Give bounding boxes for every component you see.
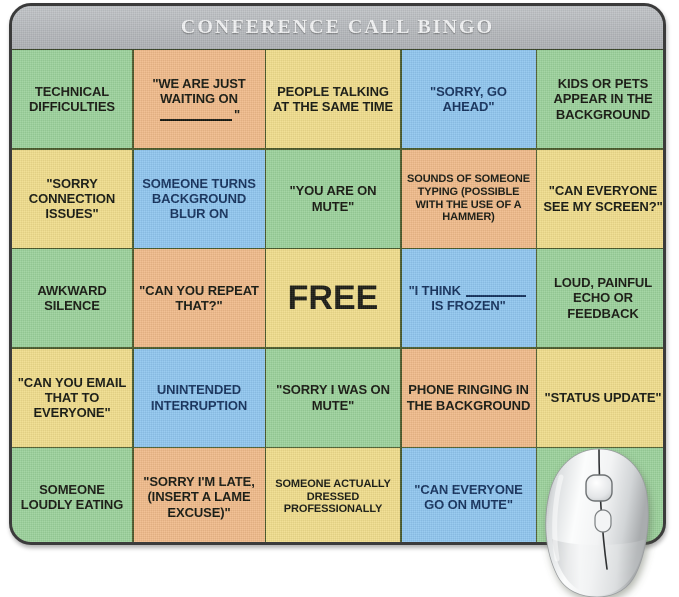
bingo-cell-text: SOMEONE ACTUALLY DRESSED PROFESSIONALLY — [270, 478, 396, 516]
bingo-cell-r4c5: "STATUS UPDATE" — [537, 349, 666, 447]
bingo-cell-text: "WE ARE JUST WAITING ON " — [138, 76, 261, 122]
bingo-cell-r4c3: "SORRY I WAS ON MUTE" — [266, 349, 400, 447]
bingo-cell-text: "SORRY CONNECTION ISSUES" — [16, 176, 128, 222]
mouse-lower-shell — [552, 539, 645, 596]
bingo-cell-text: "SORRY, GO AHEAD" — [406, 84, 532, 115]
bingo-cell-text-after: IS FROZEN" — [431, 298, 506, 313]
bingo-cell-text: KIDS OR PETS APPEAR IN THE BACKGROUND — [541, 76, 665, 122]
bingo-cell-r3c1: AWKWARD SILENCE — [12, 249, 132, 347]
bingo-cell-text: "CAN YOU EMAIL THAT TO EVERYONE" — [16, 375, 128, 421]
bingo-cell-text: UNINTENDED INTERRUPTION — [138, 382, 261, 413]
fill-in-blank — [160, 119, 232, 121]
bingo-cell-text: "CAN EVERYONE GO ON MUTE" — [406, 482, 532, 513]
bingo-cell-text: "SORRY I WAS ON MUTE" — [270, 382, 396, 413]
bingo-cell-r2c5: "CAN EVERYONE SEE MY SCREEN?" — [537, 150, 666, 248]
bingo-cell-r5c1: SOMEONE LOUDLY EATING — [12, 448, 132, 545]
bingo-cell-r5c2: "SORRY I'M LATE, (INSERT A LAME EXCUSE)" — [134, 448, 265, 545]
bingo-cell-text-before: "I THINK — [409, 283, 461, 298]
bingo-cell-r2c2: SOMEONE TURNS BACKGROUND BLUR ON — [134, 150, 265, 248]
fill-in-blank — [466, 295, 526, 297]
bingo-cell-r1c2: "WE ARE JUST WAITING ON " — [134, 50, 265, 148]
bingo-grid: TECHNICAL DIFFICULTIES "WE ARE JUST WAIT… — [12, 49, 663, 545]
mousepad-header: CONFERENCE CALL BINGO — [12, 6, 663, 49]
product-photo: CONFERENCE CALL BINGO TECHNICAL DIFFICUL… — [0, 0, 679, 583]
bingo-cell-text: "I THINK IS FROZEN" — [406, 283, 532, 314]
bingo-cell-r1c3: PEOPLE TALKING AT THE SAME TIME — [266, 50, 400, 148]
bingo-cell-r3c5: LOUD, PAINFUL ECHO OR FEEDBACK — [537, 249, 666, 347]
bingo-cell-text-after: " — [234, 107, 240, 122]
bingo-cell-text: PEOPLE TALKING AT THE SAME TIME — [270, 84, 396, 115]
bingo-cell-free-space: FREE — [266, 249, 400, 347]
bingo-cell-r2c3: "YOU ARE ON MUTE" — [266, 150, 400, 248]
bingo-cell-r2c4: SOUNDS OF SOMEONE TYPING (POSSIBLE WITH … — [402, 150, 536, 248]
bingo-cell-r5c4: "CAN EVERYONE GO ON MUTE" — [402, 448, 536, 545]
bingo-cell-r1c4: "SORRY, GO AHEAD" — [402, 50, 536, 148]
bingo-cell-text: "SORRY I'M LATE, (INSERT A LAME EXCUSE)" — [138, 474, 261, 520]
free-space-label: FREE — [288, 278, 379, 318]
mousepad: CONFERENCE CALL BINGO TECHNICAL DIFFICUL… — [9, 3, 666, 545]
bingo-cell-r4c1: "CAN YOU EMAIL THAT TO EVERYONE" — [12, 349, 132, 447]
bingo-cell-text: LOUD, PAINFUL ECHO OR FEEDBACK — [541, 275, 665, 321]
bingo-cell-text: PHONE RINGING IN THE BACKGROUND — [406, 382, 532, 413]
bingo-cell-r5c3: SOMEONE ACTUALLY DRESSED PROFESSIONALLY — [266, 448, 400, 545]
bingo-cell-r4c4: PHONE RINGING IN THE BACKGROUND — [402, 349, 536, 447]
bingo-cell-text: "CAN YOU REPEAT THAT?" — [138, 283, 261, 314]
bingo-cell-text: SOMEONE LOUDLY EATING — [16, 482, 128, 513]
bingo-cell-text: "CAN EVERYONE SEE MY SCREEN?" — [541, 183, 665, 214]
bingo-cell-text: "YOU ARE ON MUTE" — [270, 183, 396, 214]
page-title: CONFERENCE CALL BINGO — [181, 16, 494, 39]
bingo-cell-r3c2: "CAN YOU REPEAT THAT?" — [134, 249, 265, 347]
bingo-cell-text: TECHNICAL DIFFICULTIES — [16, 84, 128, 115]
bingo-cell-r1c5: KIDS OR PETS APPEAR IN THE BACKGROUND — [537, 50, 666, 148]
bingo-cell-text: "STATUS UPDATE" — [545, 390, 662, 405]
bingo-cell-text: SOMEONE TURNS BACKGROUND BLUR ON — [138, 176, 261, 222]
bingo-cell-r4c2: UNINTENDED INTERRUPTION — [134, 349, 265, 447]
bingo-cell-r1c1: TECHNICAL DIFFICULTIES — [12, 50, 132, 148]
bingo-cell-text-before: "WE ARE JUST WAITING ON — [152, 76, 245, 106]
bingo-cell-r5c5 — [537, 448, 666, 545]
bingo-cell-text: AWKWARD SILENCE — [16, 283, 128, 314]
bingo-cell-text: SOUNDS OF SOMEONE TYPING (POSSIBLE WITH … — [406, 173, 532, 224]
bingo-cell-r3c4: "I THINK IS FROZEN" — [402, 249, 536, 347]
bingo-cell-r2c1: "SORRY CONNECTION ISSUES" — [12, 150, 132, 248]
